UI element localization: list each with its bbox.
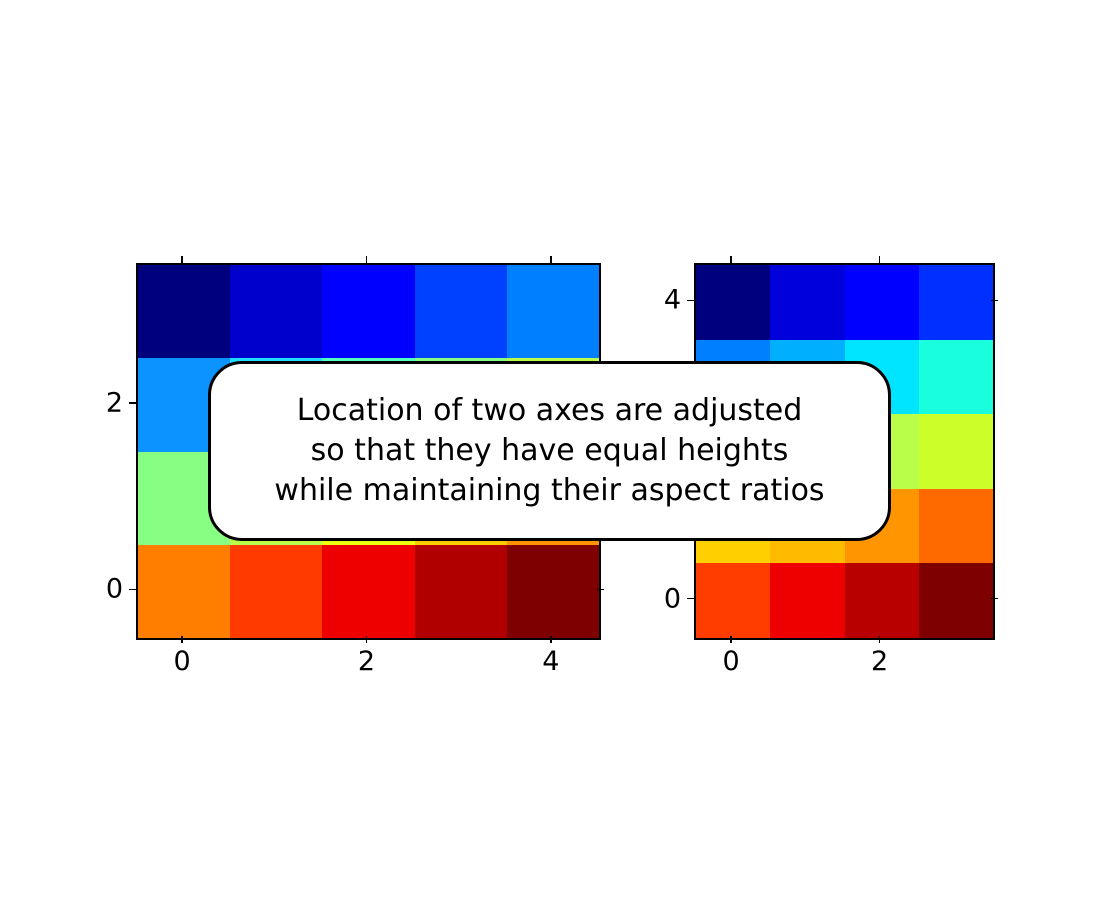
annotation-line-1: Location of two axes are adjusted [297, 391, 803, 431]
left-ytick-label: 0 [106, 576, 123, 603]
matplotlib-figure: 02402 0204 Location of two axes are adju… [0, 0, 1100, 900]
left-xtick-mark [181, 256, 183, 263]
right-heatmap-cell [919, 563, 993, 638]
left-xtick-mark [550, 256, 552, 263]
right-xtick-mark [879, 256, 881, 263]
left-heatmap-cell [415, 545, 507, 638]
right-heatmap-cell [919, 340, 993, 415]
left-heatmap-cell [138, 265, 230, 358]
left-heatmap-cell [507, 545, 599, 638]
left-heatmap-cell [322, 545, 414, 638]
right-ytick-mark [687, 300, 694, 302]
right-heatmap-cell [845, 265, 919, 340]
annotation-textbox: Location of two axes are adjusted so tha… [208, 361, 891, 541]
left-xtick-label: 2 [358, 648, 375, 675]
left-heatmap-cell [507, 265, 599, 358]
right-ytick-label: 0 [664, 585, 681, 612]
left-heatmap-cell [415, 265, 507, 358]
left-xtick-label: 0 [174, 648, 191, 675]
left-heatmap-cell [322, 265, 414, 358]
right-xtick-mark [730, 256, 732, 263]
right-heatmap-cell [919, 265, 993, 340]
annotation-line-3: while maintaining their aspect ratios [274, 471, 824, 511]
right-xtick-label: 2 [871, 648, 888, 675]
right-heatmap-cell [770, 265, 844, 340]
right-ytick-mark [991, 300, 998, 302]
left-xtick-label: 4 [542, 648, 559, 675]
left-xtick-mark [366, 636, 368, 643]
left-heatmap-cell [138, 545, 230, 638]
right-heatmap-cell [845, 563, 919, 638]
right-heatmap-cell [696, 265, 770, 340]
right-xtick-label: 0 [723, 648, 740, 675]
right-ytick-mark [991, 598, 998, 600]
left-heatmap-cell [230, 265, 322, 358]
left-xtick-mark [181, 636, 183, 643]
right-ytick-label: 4 [664, 287, 681, 314]
right-heatmap-cell [919, 489, 993, 564]
left-ytick-mark [129, 589, 136, 591]
left-xtick-mark [550, 636, 552, 643]
right-xtick-mark [730, 636, 732, 643]
right-heatmap-cell [696, 563, 770, 638]
right-heatmap-cell [919, 414, 993, 489]
left-ytick-label: 2 [106, 389, 123, 416]
left-xtick-mark [366, 256, 368, 263]
annotation-line-2: so that they have equal heights [311, 431, 789, 471]
right-ytick-mark [687, 598, 694, 600]
right-xtick-mark [879, 636, 881, 643]
left-heatmap-cell [230, 545, 322, 638]
left-ytick-mark [597, 589, 604, 591]
right-heatmap-cell [770, 563, 844, 638]
left-ytick-mark [129, 402, 136, 404]
